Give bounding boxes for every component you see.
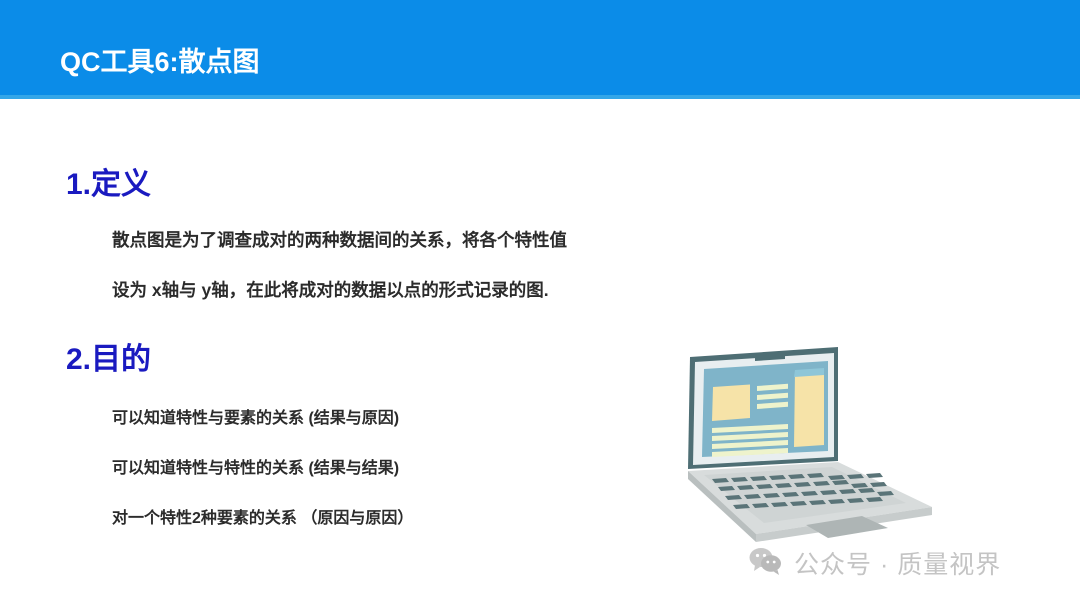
- purpose-text-line-2: 可以知道特性与特性的关系 (结果与结果): [112, 454, 399, 478]
- laptop-illustration: [660, 329, 960, 559]
- definition-text-line-1: 散点图是为了调查成对的两种数据间的关系，将各个特性值: [112, 227, 567, 252]
- section-heading-purpose: 2.目的: [66, 334, 151, 378]
- page-title: QC工具6:散点图: [60, 40, 260, 79]
- purpose-text-line-1: 可以知道特性与要素的关系 (结果与原因): [112, 404, 399, 428]
- section-heading-definition: 1.定义: [66, 159, 151, 203]
- watermark-text: 公众号 · 质量视界: [794, 545, 1001, 581]
- watermark: 公众号 · 质量视界: [748, 545, 1001, 581]
- purpose-text-line-3: 对一个特性2种要素的关系 （原因与原因）: [112, 504, 413, 528]
- wechat-icon: [748, 546, 784, 581]
- header-banner: QC工具6:散点图: [0, 0, 1080, 95]
- definition-text-line-2: 设为 x轴与 y轴，在此将成对的数据以点的形式记录的图.: [112, 277, 549, 302]
- laptop-screen-lid: [688, 347, 838, 469]
- slide-body: 1.定义 散点图是为了调查成对的两种数据间的关系，将各个特性值 设为 x轴与 y…: [0, 99, 1080, 607]
